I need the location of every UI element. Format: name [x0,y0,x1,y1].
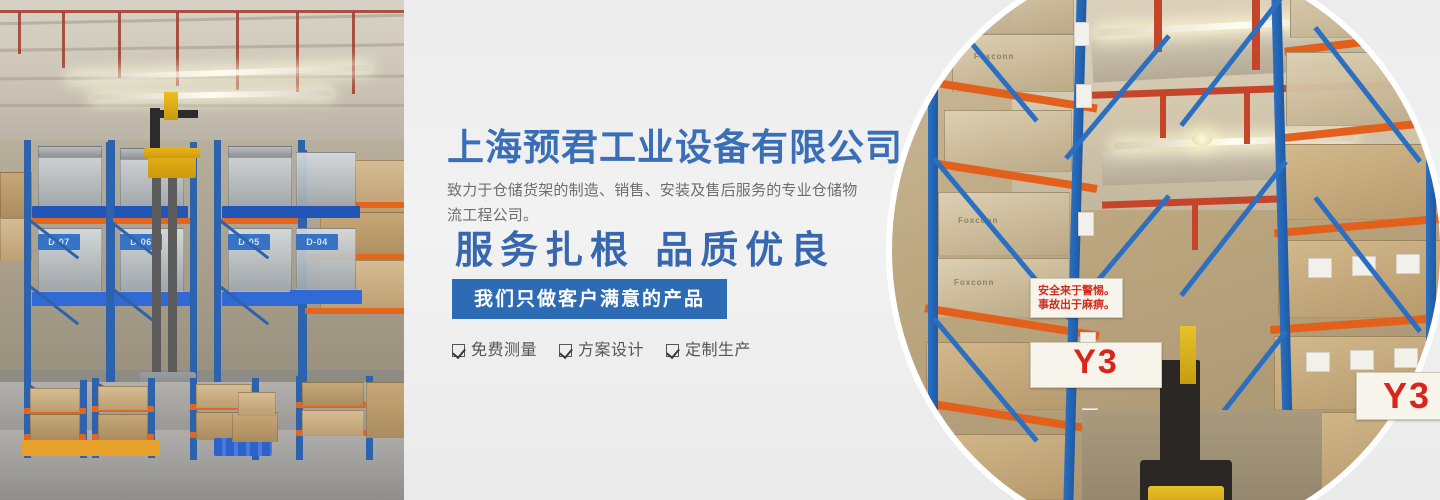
ground-carton [238,392,276,416]
rack-location-label [1306,352,1330,372]
rack-foot-guard [22,440,92,456]
sprinkler-dropper [1244,90,1250,144]
pallet-load [944,110,1072,172]
ground-carton [98,414,148,440]
forklift-mast [168,150,177,400]
feature-item: 方案设计 [559,340,644,360]
feature-list: 免费测量 方案设计 定制生产 [452,340,751,360]
cta-button[interactable]: 我们只做客户满意的产品 [452,279,727,319]
checkbox-check-icon [666,344,679,357]
carton-brand-text: Foxconn [974,0,1014,4]
drive-in-rack [214,140,286,390]
sprinkler-dropper [1160,90,1166,138]
ceiling-beam [0,104,404,107]
aisle-sign-edge: Y3 [1356,372,1440,420]
checkbox-check-icon [559,344,572,357]
banner-content: 上海预君工业设备有限公司 致力于仓储货架的制造、销售、安装及售后服务的专业仓储物… [447,0,917,500]
safety-sign-line1: 安全来于警惕。 [1038,284,1115,298]
blue-pallet [290,206,360,218]
stacked-tote [296,152,356,208]
sprinkler-dropper [236,12,239,90]
company-title: 上海预君工业设备有限公司 [447,126,903,170]
blue-pallet [290,290,362,304]
aisle-sign: Y3 [1030,342,1162,388]
rack-location-label [1308,258,1332,278]
rack-location-label [1078,212,1094,236]
sprinkler-dropper [296,12,299,92]
feature-item: 免费测量 [452,340,537,360]
forklift-boom [1180,326,1196,384]
ground-carton [98,386,148,410]
rack-upright [1426,0,1436,500]
rack-upright [928,0,938,500]
ground-carton [302,410,364,436]
forklift-chassis [1148,486,1224,500]
sprinkler-dropper [118,12,121,78]
forklift-canopy [144,148,200,158]
ground-carton [30,414,80,440]
high-bay-lamp [1192,132,1212,146]
sprinkler-dropper [352,12,355,94]
drive-in-rack [24,140,96,390]
safety-sign: 安全来于警惕。 事故出于麻痹。 [1030,278,1123,318]
pallet-load [920,434,1068,500]
ground-carton [232,412,278,442]
sprinkler-pipe [0,10,404,13]
checkbox-check-icon [452,344,465,357]
left-warehouse-photo: D-07 D-06 D-05 [0,0,404,500]
carton-brand-text: Foxconn [954,278,994,288]
safety-sign-line2: 事故出于麻痹。 [1038,298,1115,312]
pallet-load [952,0,1074,34]
hero-banner: D-07 D-06 D-05 [0,0,1440,500]
forklift-boom [164,92,178,120]
ground-carton [30,388,80,412]
forklift-mast [152,150,161,400]
feature-item: 定制生产 [666,340,751,360]
right-warehouse-photo: Foxconn Foxconn Foxconn Foxconn [892,0,1440,500]
feature-label: 方案设计 [578,340,644,360]
rack-location-label [1350,350,1374,370]
sprinkler-dropper [62,12,65,68]
rack-location-label [1076,84,1092,108]
rack-location-label [1074,22,1090,46]
rack-foot-guard [90,440,160,456]
ground-carton [366,382,404,438]
feature-label: 定制生产 [685,340,751,360]
rack-location-label [1394,348,1418,368]
sprinkler-dropper [18,12,21,54]
rack-label: D-04 [296,234,338,250]
ground-carton [302,382,364,406]
sprinkler-dropper [1192,200,1198,250]
rack-location-label [1396,254,1420,274]
company-subtitle: 致力于仓储货架的制造、销售、安装及售后服务的专业仓储物流工程公司。 [447,178,859,228]
feature-label: 免费测量 [471,340,537,360]
company-slogan: 服务扎根 品质优良 [455,226,835,274]
